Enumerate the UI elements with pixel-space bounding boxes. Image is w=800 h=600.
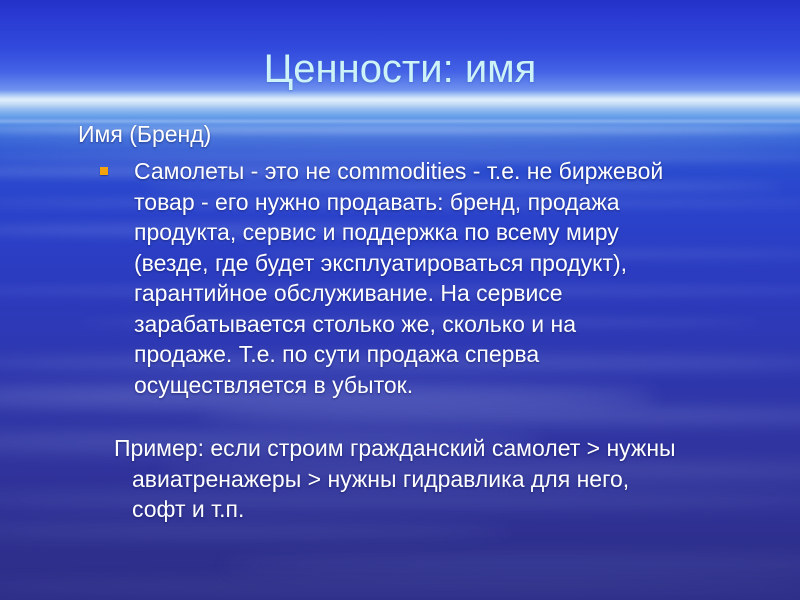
bullet-line: продукта, сервис и поддержка по всему ми…	[134, 217, 762, 248]
bullet-line: товар - его нужно продавать: бренд, прод…	[134, 187, 762, 218]
presentation-slide: Ценности: имя Имя (Бренд) Самолеты - это…	[0, 0, 800, 600]
slide-body: Имя (Бренд) Самолеты - это не commoditie…	[62, 118, 762, 525]
example-line: авиатренажеры > нужны гидравлика для нег…	[132, 464, 772, 495]
bullet-line: гарантийное обслуживание. На сервисе	[134, 278, 762, 309]
bullet-line: (везде, где будет эксплуатироваться прод…	[134, 248, 762, 279]
bullet-line: продаже. Т.е. по сути продажа сперва	[134, 339, 762, 370]
bullet-line: осуществляется в убыток.	[134, 370, 762, 401]
slide-title: Ценности: имя	[60, 46, 740, 92]
example-paragraph: Пример: если строим гражданский самолет …	[114, 433, 772, 525]
square-bullet-icon	[100, 167, 108, 175]
bullet-line: зарабатывается столько же, сколько и на	[134, 309, 762, 340]
bullet-list-item: Самолеты - это не commodities - т.е. не …	[118, 156, 762, 400]
example-line: Пример: если строим гражданский самолет …	[132, 433, 772, 464]
example-line: софт и т.п.	[132, 494, 772, 525]
bullet-line: Самолеты - это не commodities - т.е. не …	[134, 156, 762, 187]
body-heading: Имя (Бренд)	[78, 118, 762, 150]
